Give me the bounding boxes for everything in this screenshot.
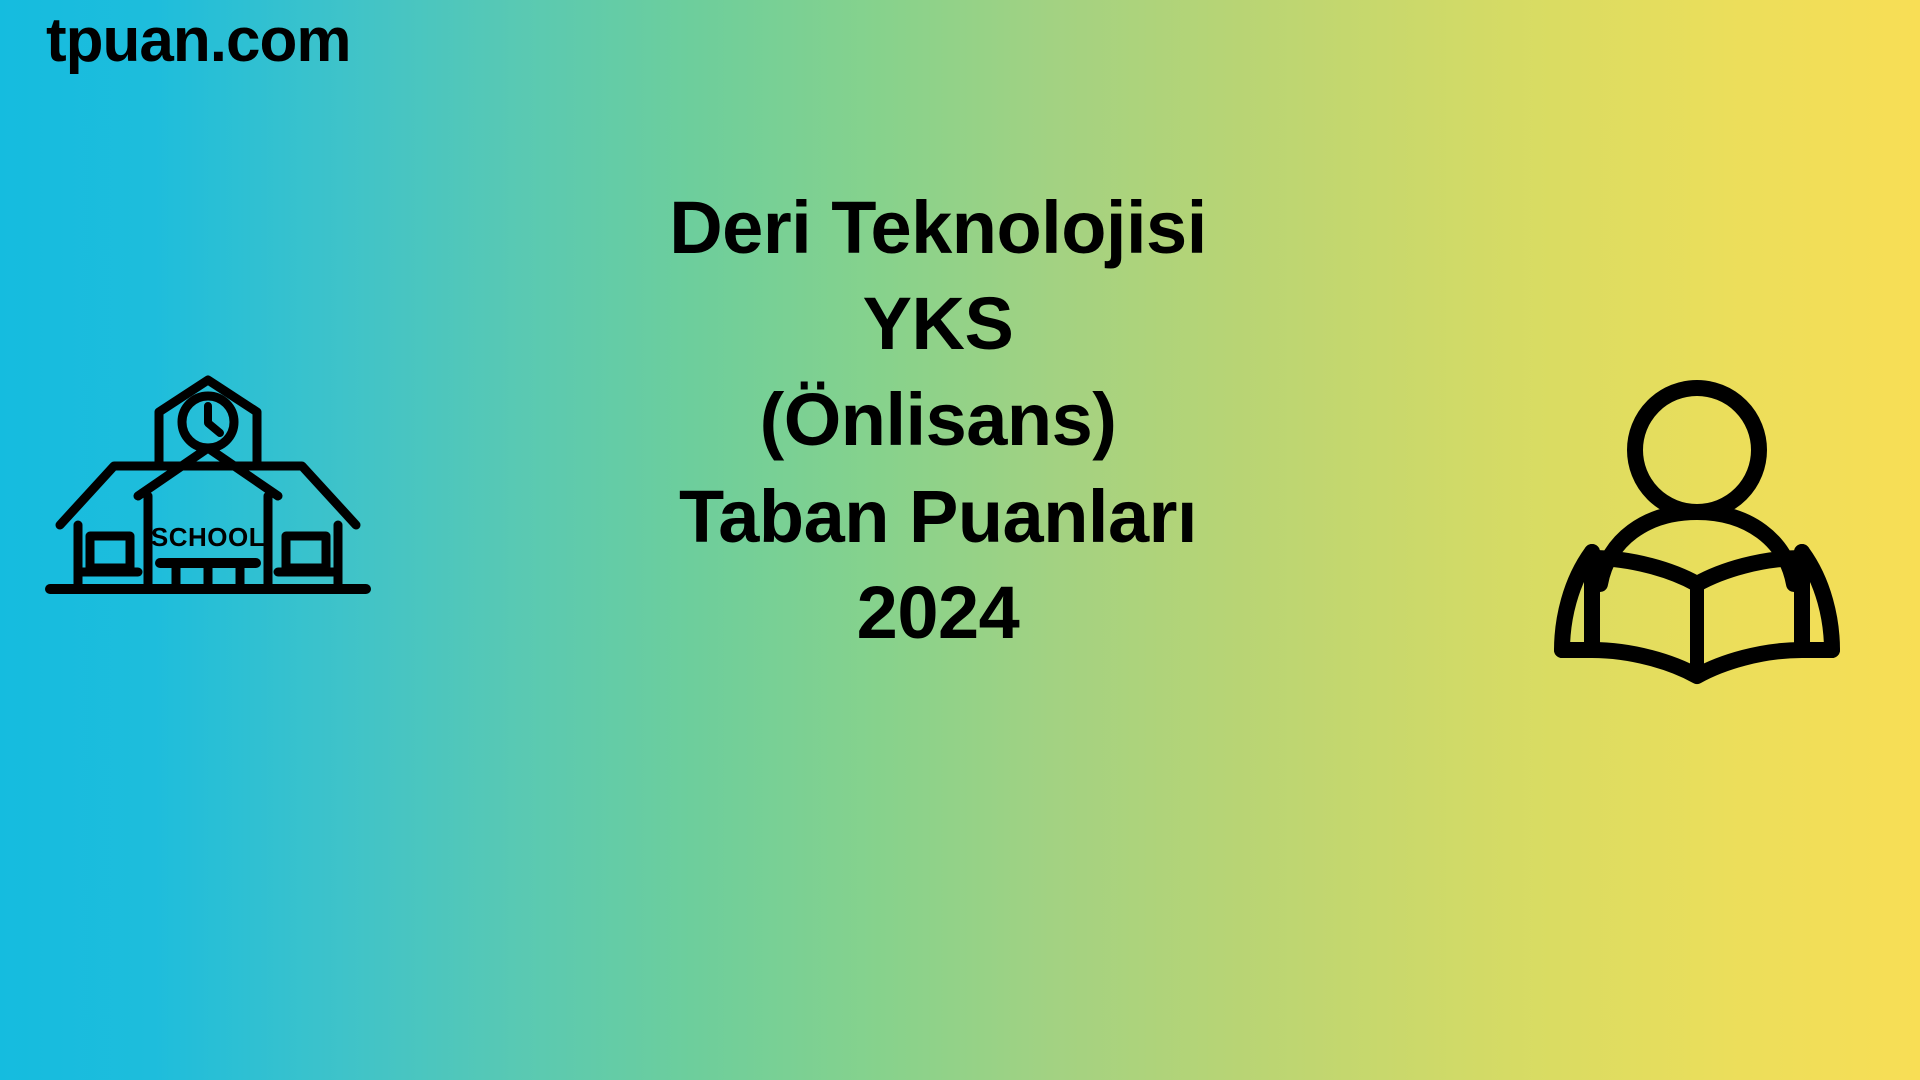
school-building-icon: SCHOOL [38, 348, 378, 598]
person-reading-book-icon [1552, 372, 1842, 692]
headline-line-2: YKS [669, 276, 1207, 372]
reader-svg [1552, 372, 1842, 692]
main-roof [60, 466, 356, 525]
headline-line-4: Taban Puanları [669, 469, 1207, 565]
headline-line-1: Deri Teknolojisi [669, 180, 1207, 276]
clock-hands [208, 406, 220, 433]
window-right-top [286, 536, 326, 568]
site-name: tpuan.com [46, 8, 350, 73]
school-label: SCHOOL [151, 522, 265, 552]
reader-head [1635, 388, 1759, 512]
promo-banner: tpuan.com Deri Teknolojisi YKS (Önlisans… [0, 0, 1920, 1080]
school-building-svg: SCHOOL [38, 348, 378, 598]
window-left-top [90, 536, 130, 568]
reader-shoulders [1600, 512, 1794, 584]
headline-line-3: (Önlisans) [669, 372, 1207, 468]
headline-line-5: 2024 [669, 565, 1207, 661]
